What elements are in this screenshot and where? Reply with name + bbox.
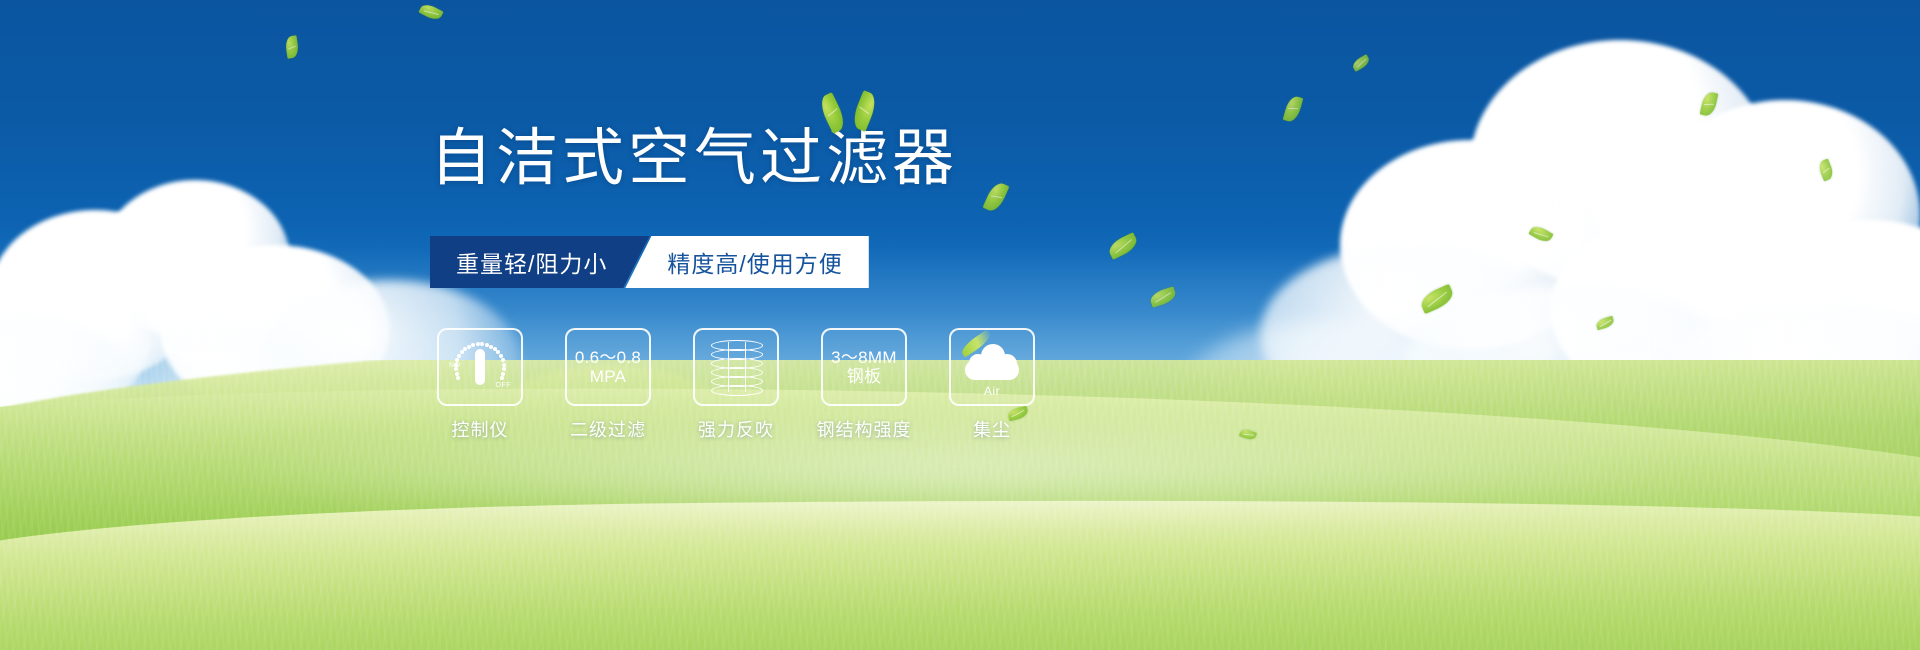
pressure-line-2: MPA (575, 367, 641, 386)
steel-line-2: 钢板 (831, 367, 897, 386)
air-cloud-icon: Air (961, 340, 1023, 394)
floating-leaf (1283, 95, 1304, 124)
control-dial-icon: NO OFF (450, 338, 510, 396)
floating-leaf (983, 180, 1010, 214)
subtitle-tab-1[interactable]: 重量轻/阻力小 (430, 236, 649, 288)
cloud-body (965, 360, 1019, 380)
filter-coil-icon (711, 340, 761, 394)
steel-line-1: 3～8MM (831, 348, 897, 367)
dial-tick (456, 376, 460, 380)
feature-item-control-dial[interactable]: NO OFF 控制仪 (430, 328, 530, 442)
dial-needle (475, 349, 485, 385)
dial-tick (454, 367, 458, 371)
feature-label-dust: 集尘 (973, 416, 1011, 442)
dial-tick (501, 358, 505, 362)
subtitle-tab-2-label: 精度高/使用方便 (667, 245, 842, 279)
page-title: 自洁式空气过滤器 (430, 128, 958, 190)
feature-item-pressure[interactable]: 0.6～0.8 MPA 二级过滤 (558, 328, 658, 442)
feature-label-pressure: 二级过滤 (570, 416, 646, 442)
feature-badge-backblow (693, 328, 779, 406)
dial-tick (471, 343, 475, 347)
dial-tick (502, 363, 506, 367)
floating-leaf (418, 2, 443, 23)
subtitle-tabs: 重量轻/阻力小 精度高/使用方便 (430, 236, 869, 288)
hero-banner: 自洁式空气过滤器 重量轻/阻力小 精度高/使用方便 NO OFF 控制仪 (0, 0, 1920, 650)
feature-badge-pressure: 0.6～0.8 MPA (565, 328, 651, 406)
floating-leaf (1351, 54, 1372, 72)
floating-leaf (1106, 232, 1140, 260)
dial-tick (455, 372, 459, 376)
feature-label-control-dial: 控制仪 (452, 416, 509, 442)
feature-item-steel[interactable]: 3～8MM 钢板 钢结构强度 (814, 328, 914, 442)
floating-leaf (1528, 223, 1553, 244)
dial-tick (454, 363, 458, 367)
green-sprout-leaves-icon (820, 92, 890, 138)
air-label: Air (961, 384, 1023, 398)
dial-tick (502, 367, 506, 371)
dial-tick (500, 376, 504, 380)
pressure-line-1: 0.6～0.8 (575, 348, 641, 367)
dial-tick (460, 350, 464, 354)
sprout-leaf-right (850, 90, 880, 132)
floating-leaf (1700, 91, 1719, 117)
feature-badge-dust: Air (949, 328, 1035, 406)
dial-tick (457, 354, 461, 358)
feature-label-backblow: 强力反吹 (698, 416, 774, 442)
feature-badge-control-dial: NO OFF (437, 328, 523, 406)
floating-leaf (1148, 286, 1177, 307)
dial-off-label: OFF (496, 382, 512, 389)
subtitle-tab-2[interactable]: 精度高/使用方便 (625, 236, 868, 288)
sprout-leaf-left (817, 92, 849, 134)
floating-leaf (285, 35, 300, 58)
feature-item-backblow[interactable]: 强力反吹 (686, 328, 786, 442)
floating-leaf (1817, 158, 1836, 181)
feature-item-dust[interactable]: Air 集尘 (942, 328, 1042, 442)
steel-plate-text-icon: 3～8MM 钢板 (831, 348, 897, 386)
subtitle-tab-1-label: 重量轻/阻力小 (456, 245, 607, 279)
feature-badge-steel: 3～8MM 钢板 (821, 328, 907, 406)
coil-ring (711, 385, 763, 396)
floating-leaf (1418, 284, 1456, 314)
feature-label-steel: 钢结构强度 (817, 416, 912, 442)
dial-tick (480, 342, 484, 346)
floating-leaf (1595, 316, 1615, 331)
pressure-text-icon: 0.6～0.8 MPA (575, 348, 641, 386)
dial-tick (476, 342, 480, 346)
feature-badge-row: NO OFF 控制仪 0.6～0.8 MPA 二级过滤 (430, 328, 1042, 442)
